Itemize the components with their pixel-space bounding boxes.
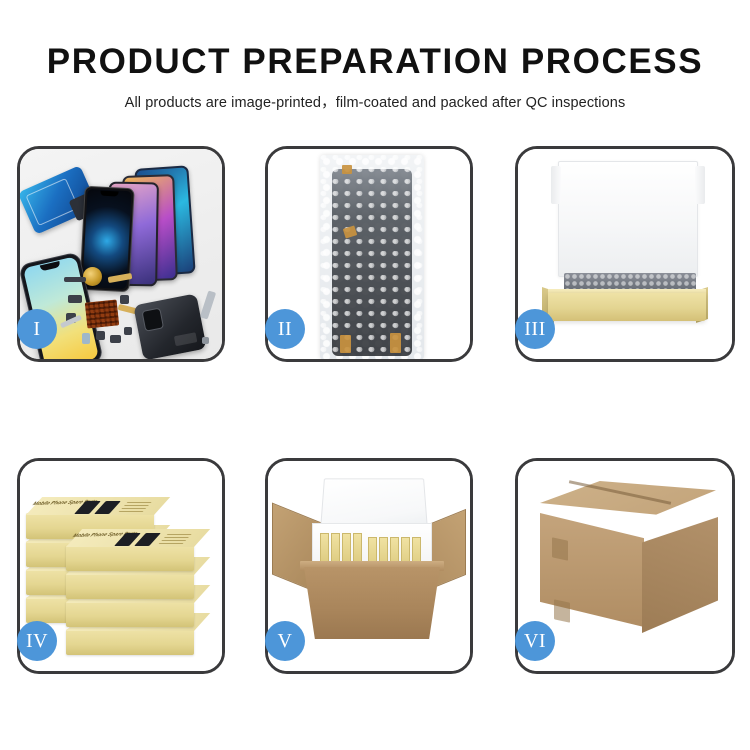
small-part-icon xyxy=(68,295,82,303)
carton-body-icon xyxy=(304,567,440,639)
step-badge-2: II xyxy=(265,309,305,349)
step-panel-2: II xyxy=(265,146,473,362)
product-preparation-infographic: PRODUCT PREPARATION PROCESS All products… xyxy=(0,0,750,750)
phone-notch-icon xyxy=(100,191,118,197)
bubble-wrapped-screen-icon xyxy=(320,155,424,359)
screw-icon xyxy=(202,337,209,344)
step-badge-4: IV xyxy=(17,621,57,661)
carton-tape-icon xyxy=(552,537,568,560)
step-badge-6: VI xyxy=(515,621,555,661)
retail-box-icon xyxy=(66,629,194,655)
logic-board-chip-icon xyxy=(85,299,120,328)
carton-tape-icon xyxy=(554,599,570,622)
sim-tray-icon xyxy=(82,333,90,344)
retail-box-front-icon: Mobile Phone Spare Parts xyxy=(66,545,194,571)
small-part-icon xyxy=(120,295,129,304)
tape-strip-icon xyxy=(342,165,352,174)
retail-box-icon xyxy=(66,601,194,627)
small-part-icon xyxy=(124,327,132,335)
retail-box-icon xyxy=(66,573,194,599)
step-panel-6: VI xyxy=(515,458,735,674)
phone-notch-icon xyxy=(40,261,61,271)
step-panel-4: Mobile Phone Spare Parts Mobile Phone Sp… xyxy=(17,458,225,674)
phone-back-housing-icon xyxy=(133,293,207,359)
tape-strip-icon xyxy=(340,335,351,353)
page-subtitle: All products are image-printed，film-coat… xyxy=(0,91,750,112)
white-foam-lid-icon xyxy=(558,161,698,277)
yellow-inner-box-icon xyxy=(548,293,706,321)
small-part-icon xyxy=(96,331,105,340)
step-panel-3: III xyxy=(515,146,735,362)
step-badge-3: III xyxy=(515,309,555,349)
step-panel-1: I xyxy=(17,146,225,362)
step-panel-5: V xyxy=(265,458,473,674)
process-steps-grid: I II III xyxy=(17,146,735,680)
speaker-coil-icon xyxy=(83,267,102,286)
page-title: PRODUCT PREPARATION PROCESS xyxy=(0,44,750,81)
header: PRODUCT PREPARATION PROCESS All products… xyxy=(0,0,750,112)
tape-strip-icon xyxy=(390,333,401,353)
battery-part-icon xyxy=(64,277,86,282)
camera-module-icon xyxy=(110,335,121,343)
step-badge-5: V xyxy=(265,621,305,661)
step-badge-1: I xyxy=(17,309,57,349)
